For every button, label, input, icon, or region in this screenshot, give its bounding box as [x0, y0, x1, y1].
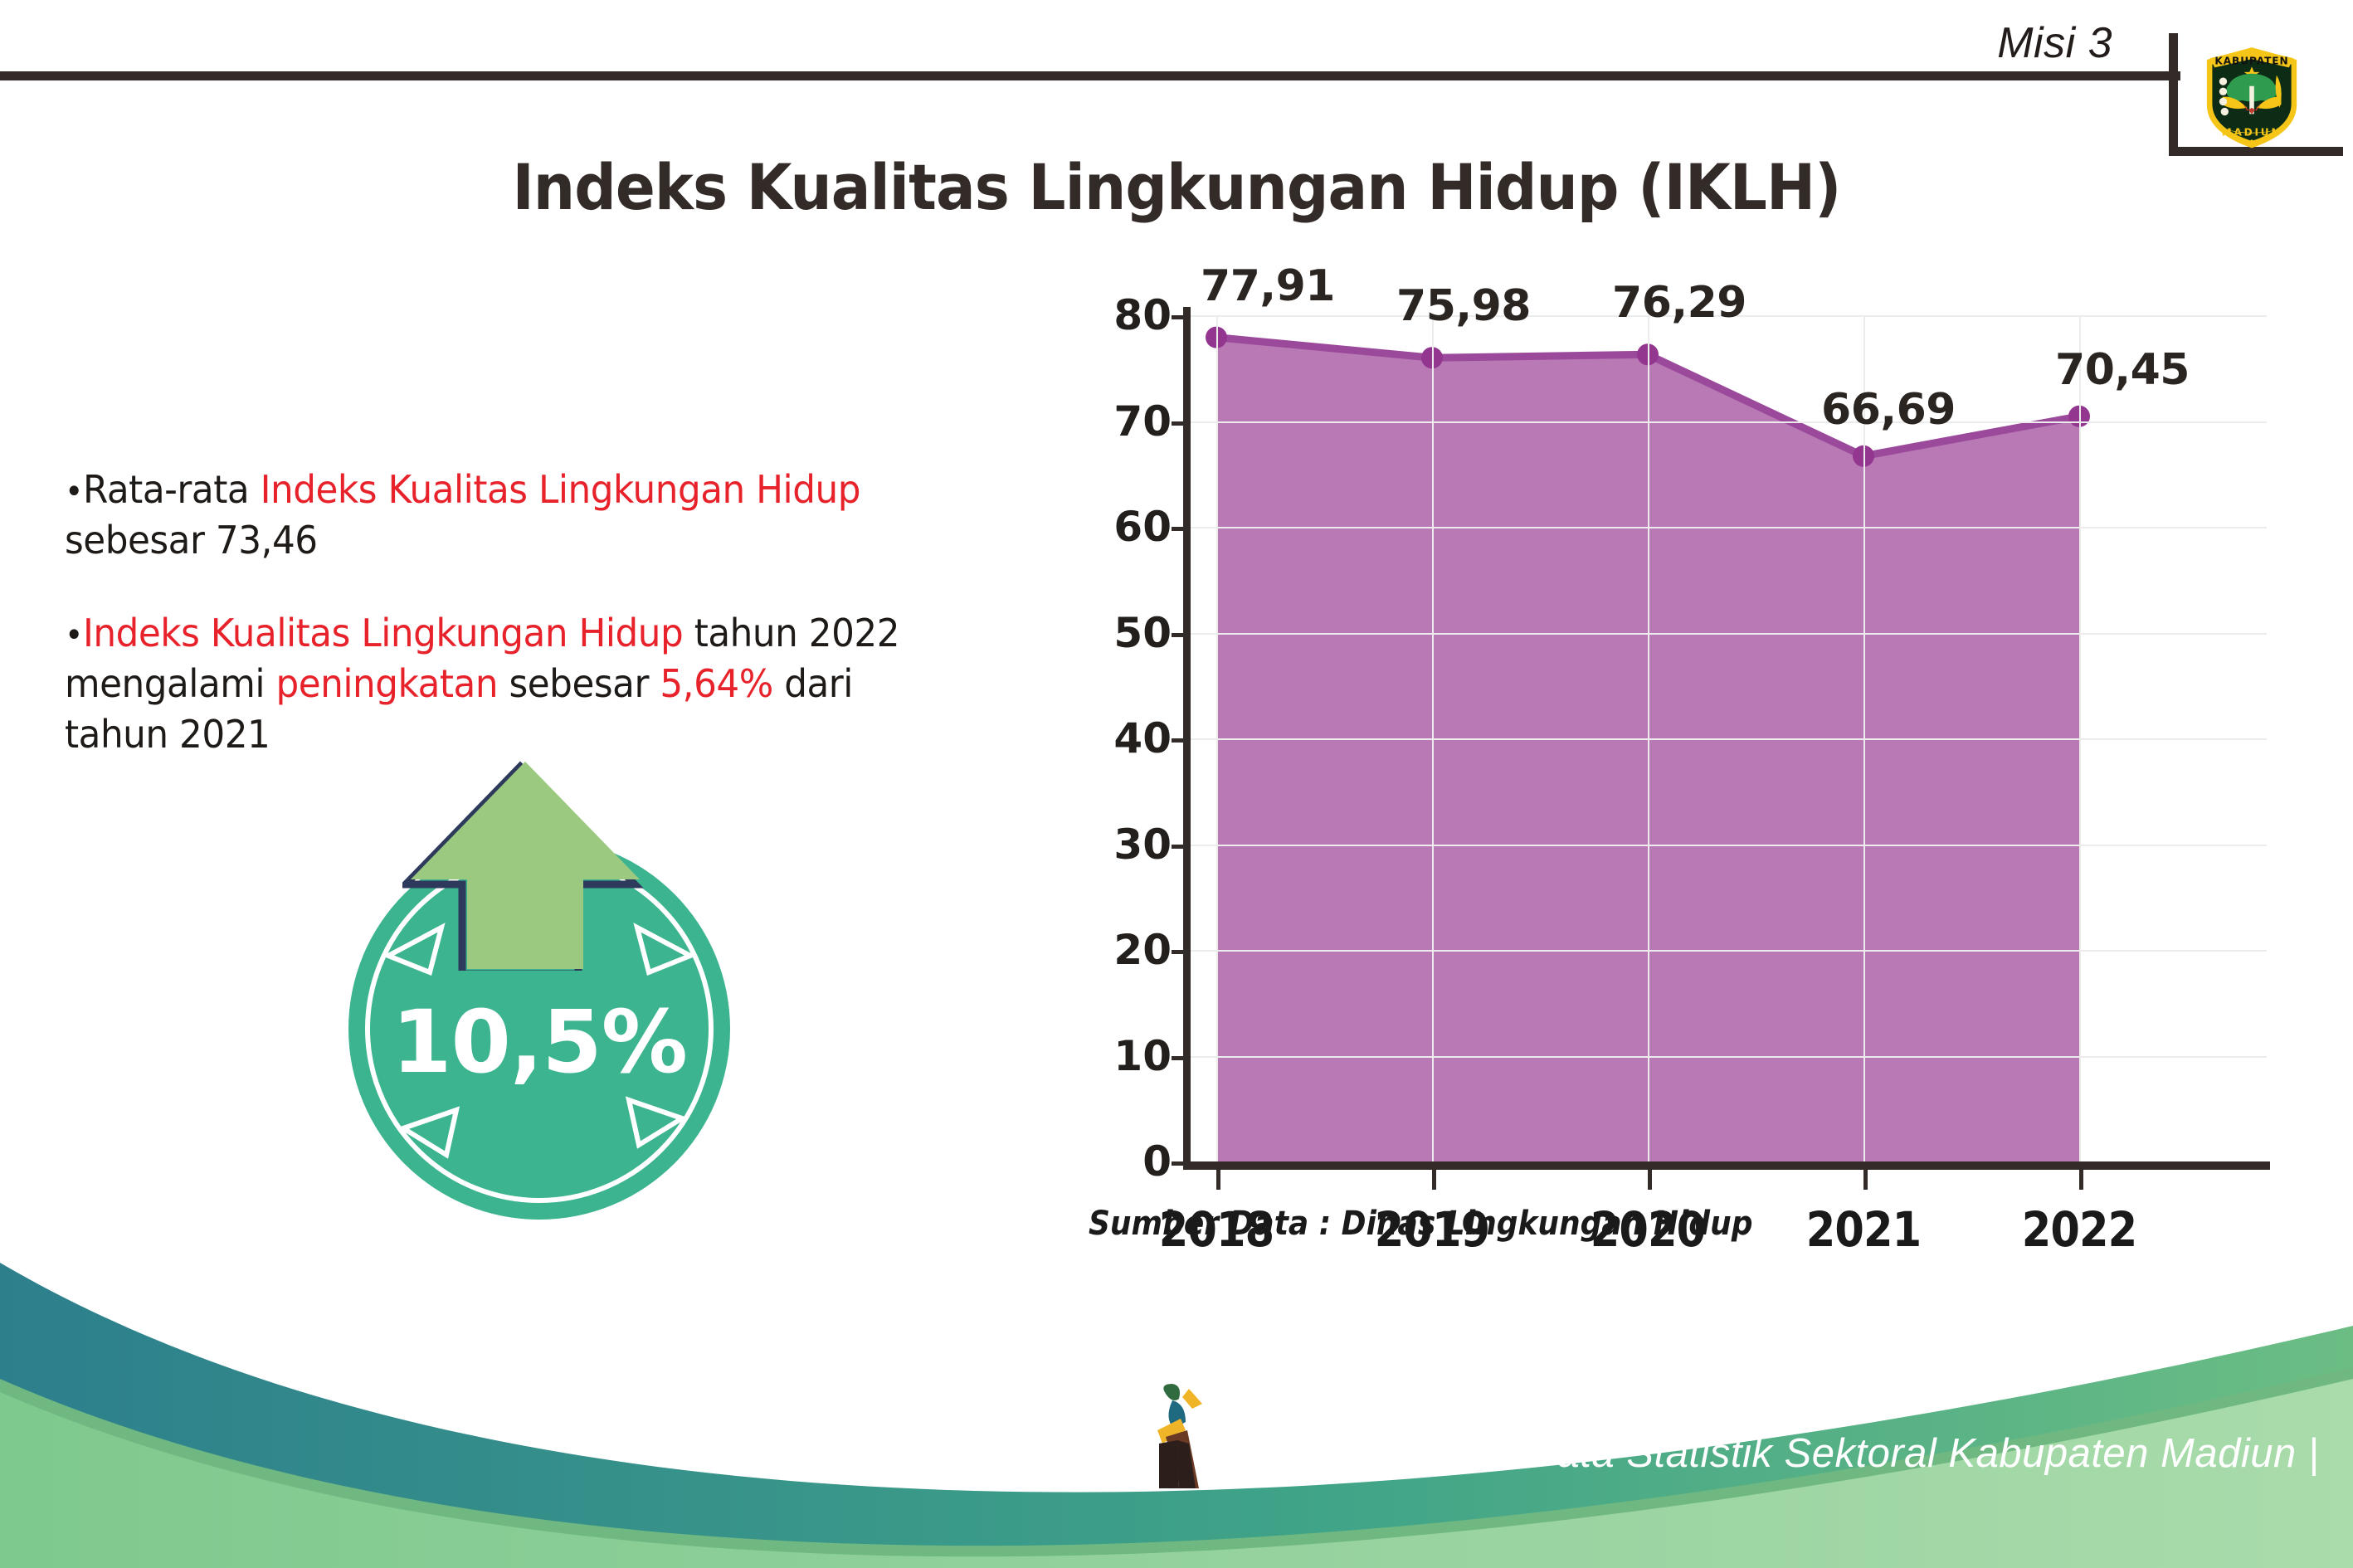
x-tick-mark: [1648, 1170, 1652, 1190]
gridline-horizontal: [1188, 1056, 2267, 1058]
data-point-label: 66,69: [1821, 385, 1956, 435]
bullet-text-run: •: [65, 473, 83, 511]
bullet-text-run: Indeks Kualitas Lingkungan Hidup: [83, 611, 683, 655]
gridline-vertical: [1648, 315, 1649, 1161]
data-point-label: 76,29: [1612, 278, 1746, 328]
sparkle-triangle-icon: [631, 921, 697, 979]
x-axis-line: [1183, 1161, 2270, 1170]
iklh-area-chart: 0102030405060708020182019202020212022 77…: [979, 290, 2273, 1170]
kabupaten-madiun-emblem-icon: KABUPATEN MADIUN: [2189, 37, 2315, 153]
y-tick-label: 60: [1113, 503, 1172, 551]
infographic-slide: Misi 3 KABUPATEN MADIUN Indek: [0, 0, 2353, 1568]
y-tick-mark: [1172, 633, 1186, 637]
x-tick-label: 2022: [2022, 1201, 2137, 1258]
list-item: •Indeks Kualitas Lingkungan Hidup tahun …: [65, 608, 932, 759]
y-tick-label: 50: [1113, 609, 1172, 657]
sparkle-triangle-icon: [382, 921, 448, 979]
footer-caption: Media Infografis Data Statistik Sektoral…: [1220, 1430, 2319, 1477]
chart-source-note: Sumber Data : Dinas Lingkungan Hidup: [1089, 1205, 1753, 1243]
bullet-text-run: •: [65, 617, 83, 655]
y-tick-mark: [1172, 527, 1186, 531]
sparkle-triangle-icon: [397, 1103, 463, 1161]
header-divider-rule: [0, 71, 2180, 80]
bullet-text-run: Indeks Kualitas Lingkungan Hidup: [261, 467, 860, 512]
bullet-text-run: 5,64%: [660, 661, 772, 706]
list-item: •Rata-rata Indeks Kualitas Lingkungan Hi…: [65, 465, 932, 565]
y-tick-label: 70: [1113, 397, 1172, 446]
x-tick-label: 2021: [1806, 1201, 1922, 1258]
bullet-text-run: sebesar: [498, 661, 660, 706]
bullet-text-run: Rata-rata: [83, 467, 261, 512]
svg-text:KABUPATEN: KABUPATEN: [2214, 56, 2288, 67]
gridline-horizontal: [1188, 421, 2267, 423]
statistics-person-icon: [1141, 1379, 1220, 1495]
page-title: Indeks Kualitas Lingkungan Hidup (IKLH): [82, 150, 2270, 224]
gridline-vertical: [1863, 315, 1865, 1161]
logo-corner-bracket: KABUPATEN MADIUN: [2169, 33, 2353, 156]
gridline-vertical: [1432, 315, 1434, 1161]
y-tick-label: 40: [1113, 714, 1172, 762]
sparkle-triangle-icon: [622, 1093, 689, 1152]
gridline-vertical: [1216, 315, 1218, 1161]
y-tick-mark: [1172, 950, 1186, 954]
footer-waves: [0, 1220, 2353, 1568]
x-tick-mark: [2079, 1170, 2083, 1190]
y-tick-label: 30: [1113, 821, 1172, 869]
footer-banner: Media Infografis Data Statistik Sektoral…: [0, 1220, 2353, 1568]
gridline-horizontal: [1188, 738, 2267, 740]
y-tick-mark: [1172, 1161, 1186, 1166]
y-tick-label: 10: [1113, 1032, 1172, 1080]
gridline-vertical: [2079, 315, 2081, 1161]
data-point-label: 77,91: [1201, 261, 1335, 311]
data-point-label: 75,98: [1396, 281, 1531, 331]
y-tick-mark: [1172, 738, 1186, 743]
growth-badge: 10,5%: [332, 755, 763, 1220]
gridline-horizontal: [1188, 633, 2267, 635]
gridline-horizontal: [1188, 845, 2267, 846]
bracket-vertical-line: [2169, 33, 2178, 156]
bullet-text-run: peningkatan: [275, 661, 498, 706]
y-tick-label: 80: [1113, 291, 1172, 339]
y-axis-line: [1183, 307, 1191, 1168]
x-tick-mark: [1863, 1170, 1868, 1190]
y-tick-label: 0: [1142, 1137, 1172, 1186]
x-tick-mark: [1432, 1170, 1436, 1190]
mission-label: Misi 3: [1997, 18, 2112, 68]
y-tick-mark: [1172, 421, 1186, 426]
bullet-text-run: sebesar 73,46: [65, 518, 318, 562]
y-tick-label: 20: [1113, 926, 1172, 974]
badge-value: 10,5%: [348, 991, 730, 1093]
x-tick-mark: [1216, 1170, 1220, 1190]
y-tick-mark: [1172, 845, 1186, 849]
data-point-label: 70,45: [2055, 345, 2190, 395]
gridline-horizontal: [1188, 527, 2267, 528]
chart-plot-area: [1188, 315, 2267, 1161]
bullet-list: •Rata-rata Indeks Kualitas Lingkungan Hi…: [65, 465, 977, 803]
gridline-horizontal: [1188, 950, 2267, 952]
y-tick-mark: [1172, 315, 1186, 319]
svg-text:MADIUN: MADIUN: [2222, 126, 2282, 138]
y-tick-mark: [1172, 1056, 1186, 1060]
